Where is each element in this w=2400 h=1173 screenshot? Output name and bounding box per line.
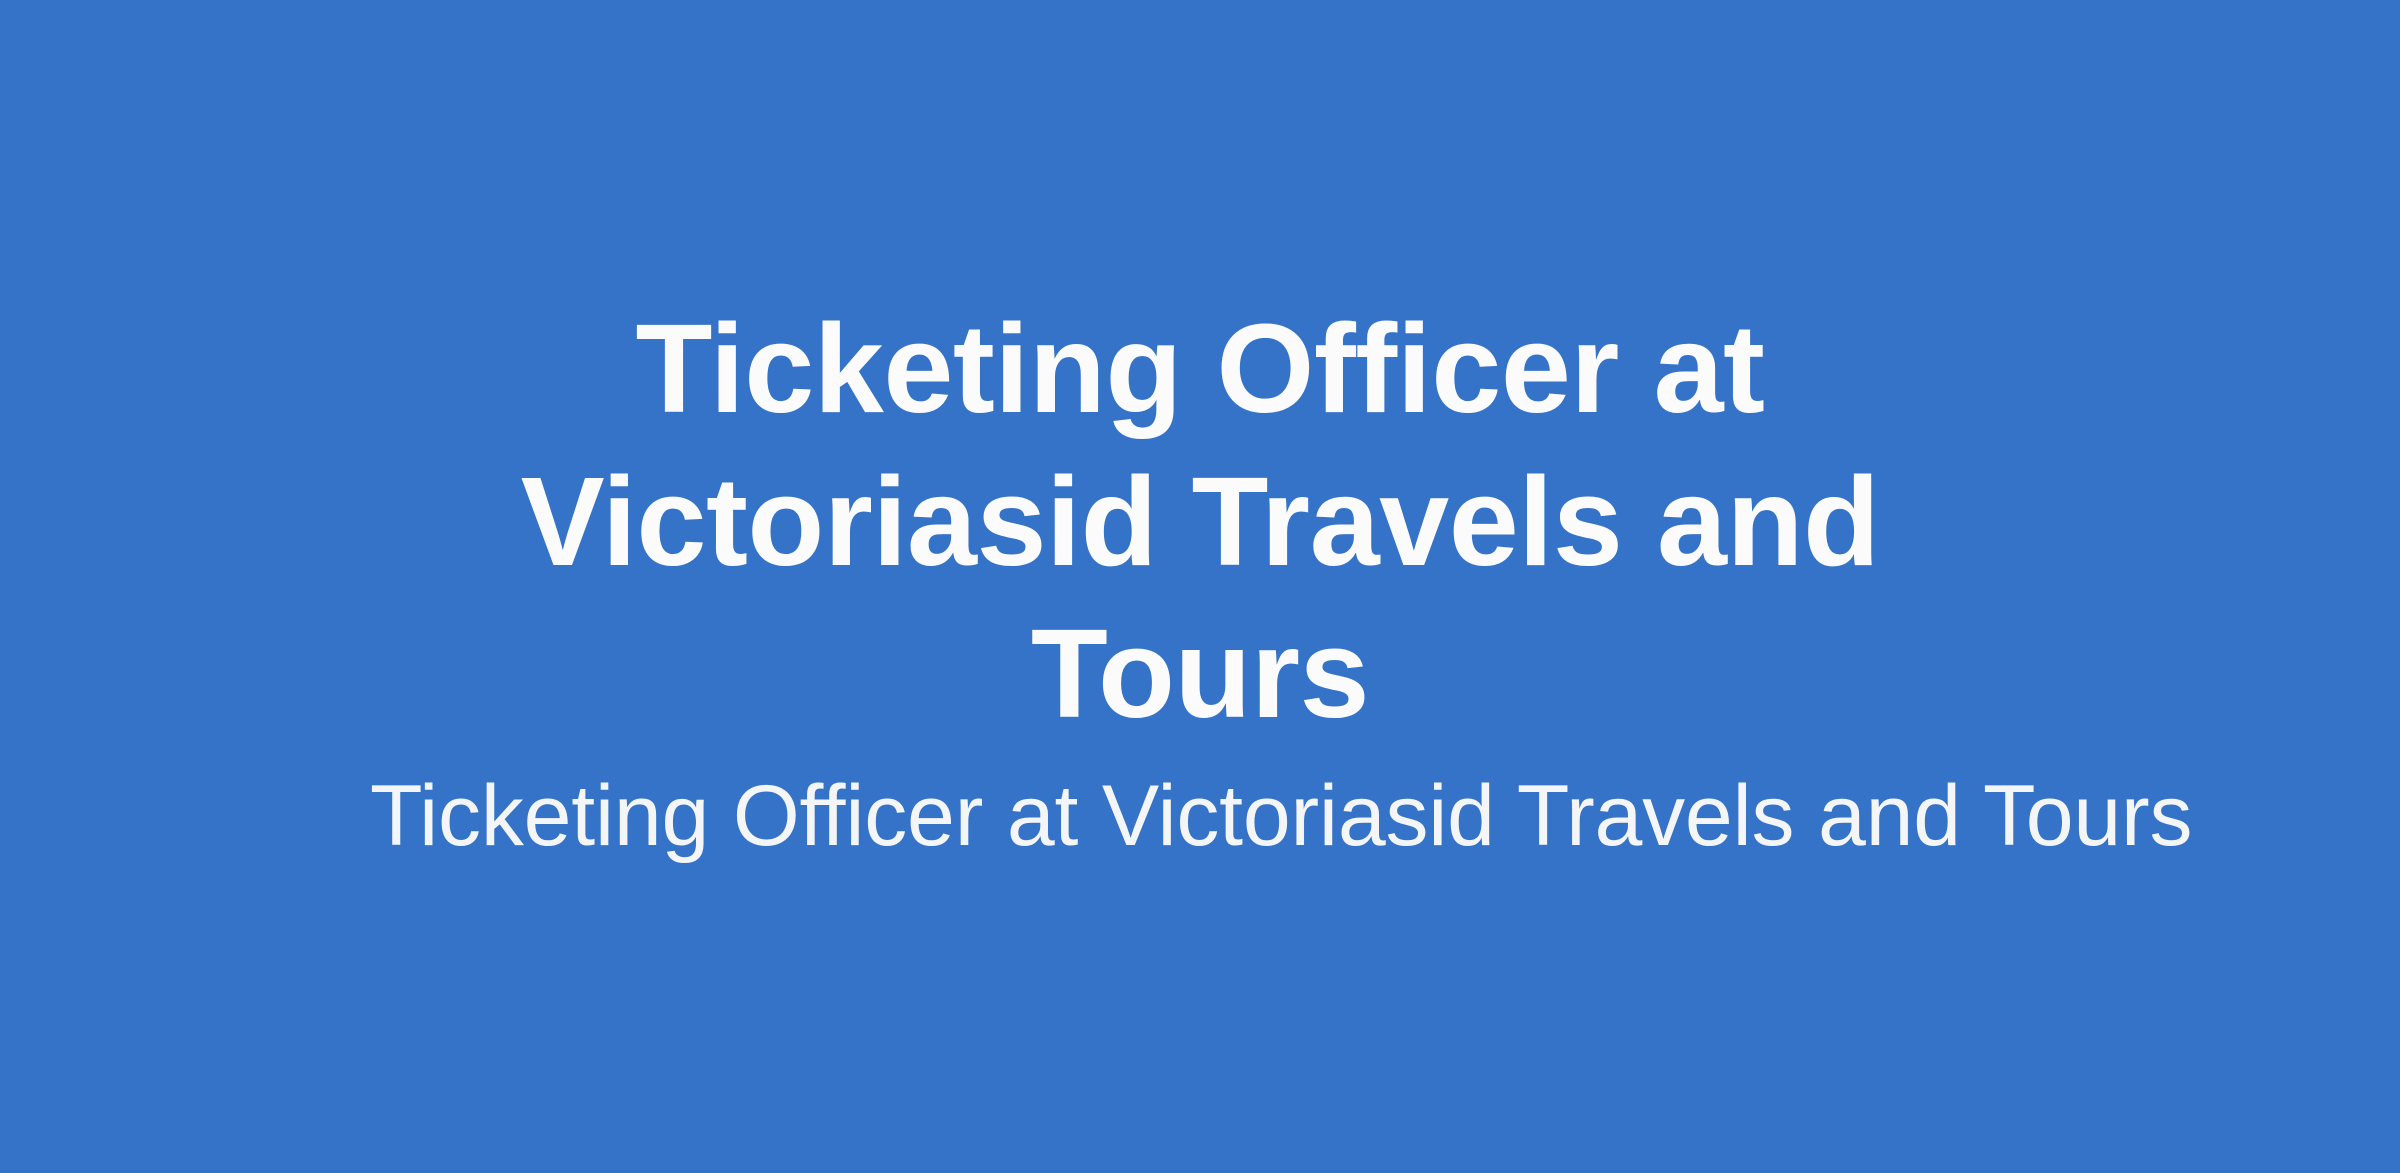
page-subtitle: Ticketing Officer at Victoriasid Travels… <box>370 765 2030 868</box>
title-card: Ticketing Officer at Victoriasid Travels… <box>0 0 2400 1173</box>
title-card-content: Ticketing Officer at Victoriasid Travels… <box>370 293 2030 868</box>
page-title: Ticketing Officer at Victoriasid Travels… <box>370 293 2030 750</box>
